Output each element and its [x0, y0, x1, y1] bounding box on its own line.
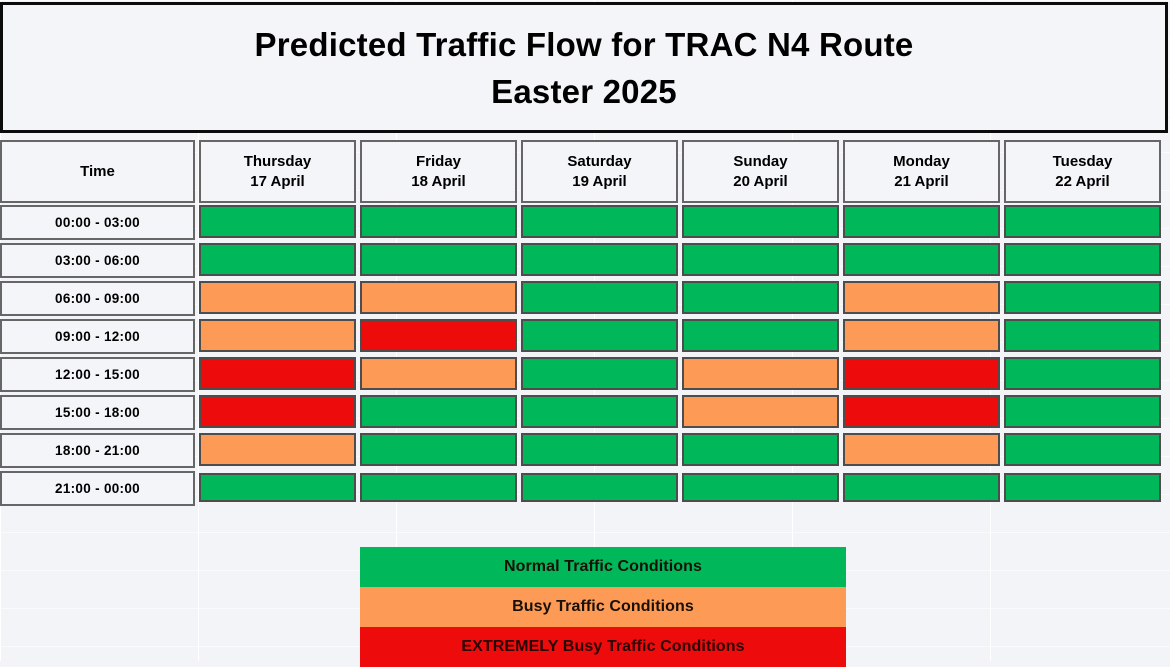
column-header-day-date: 22 April	[1055, 172, 1109, 192]
traffic-cell-saturday-normal[interactable]	[521, 281, 678, 314]
row-header-time-slot-label: 12:00 - 15:00	[55, 367, 140, 383]
traffic-cell-sunday-normal[interactable]	[682, 433, 839, 466]
row-header-time-slot[interactable]: 00:00 - 03:00	[0, 205, 195, 240]
traffic-cell-friday-normal[interactable]	[360, 433, 517, 466]
column-header-day-date: 19 April	[572, 172, 626, 192]
legend-item-label: Busy Traffic Conditions	[512, 598, 694, 616]
column-header-day-name: Thursday	[244, 152, 312, 172]
traffic-cell-friday-normal[interactable]	[360, 243, 517, 276]
row-header-time-slot[interactable]: 12:00 - 15:00	[0, 357, 195, 392]
traffic-cell-saturday-normal[interactable]	[521, 243, 678, 276]
column-header-day-name: Saturday	[567, 152, 631, 172]
table-row: 15:00 - 18:00	[0, 395, 1170, 433]
traffic-cell-tuesday-normal[interactable]	[1004, 319, 1161, 352]
table-row: 12:00 - 15:00	[0, 357, 1170, 395]
row-header-time-slot-label: 00:00 - 03:00	[55, 215, 140, 231]
page-title-line-1: Predicted Traffic Flow for TRAC N4 Route	[255, 21, 914, 68]
traffic-cell-thursday-extreme[interactable]	[199, 395, 356, 428]
row-header-time-slot-label: 21:00 - 00:00	[55, 481, 140, 497]
traffic-cell-monday-normal[interactable]	[843, 473, 1000, 502]
traffic-cell-friday-busy[interactable]	[360, 281, 517, 314]
traffic-cell-monday-normal[interactable]	[843, 205, 1000, 238]
traffic-cell-tuesday-normal[interactable]	[1004, 281, 1161, 314]
traffic-cell-sunday-busy[interactable]	[682, 357, 839, 390]
row-header-time-slot-label: 18:00 - 21:00	[55, 443, 140, 459]
traffic-cell-saturday-normal[interactable]	[521, 357, 678, 390]
column-header-saturday[interactable]: Saturday19 April	[521, 140, 678, 203]
row-header-time-slot[interactable]: 18:00 - 21:00	[0, 433, 195, 468]
traffic-cell-friday-extreme[interactable]	[360, 319, 517, 352]
traffic-cell-tuesday-normal[interactable]	[1004, 473, 1161, 502]
row-header-time-slot-label: 03:00 - 06:00	[55, 253, 140, 269]
row-header-time-slot[interactable]: 09:00 - 12:00	[0, 319, 195, 354]
legend-item-extreme[interactable]: EXTREMELY Busy Traffic Conditions	[360, 627, 846, 667]
column-header-day-name: Tuesday	[1053, 152, 1113, 172]
page-title-line-2: Easter 2025	[491, 68, 677, 115]
legend: Normal Traffic ConditionsBusy Traffic Co…	[360, 547, 846, 667]
column-header-day-name: Monday	[893, 152, 950, 172]
table-body: 00:00 - 03:0003:00 - 06:0006:00 - 09:000…	[0, 205, 1170, 509]
column-header-day-date: 20 April	[733, 172, 787, 192]
traffic-cell-thursday-busy[interactable]	[199, 433, 356, 466]
traffic-cell-monday-busy[interactable]	[843, 433, 1000, 466]
legend-item-label: Normal Traffic Conditions	[504, 558, 702, 576]
traffic-cell-thursday-normal[interactable]	[199, 205, 356, 238]
table-row: 18:00 - 21:00	[0, 433, 1170, 471]
traffic-cell-tuesday-normal[interactable]	[1004, 357, 1161, 390]
row-header-time-slot-label: 06:00 - 09:00	[55, 291, 140, 307]
table-row: 06:00 - 09:00	[0, 281, 1170, 319]
table-row: 21:00 - 00:00	[0, 471, 1170, 509]
traffic-cell-tuesday-normal[interactable]	[1004, 395, 1161, 428]
table-header-row: TimeThursday17 AprilFriday18 AprilSaturd…	[0, 140, 1170, 205]
traffic-cell-saturday-normal[interactable]	[521, 473, 678, 502]
traffic-cell-sunday-normal[interactable]	[682, 205, 839, 238]
traffic-cell-saturday-normal[interactable]	[521, 205, 678, 238]
traffic-cell-thursday-busy[interactable]	[199, 319, 356, 352]
column-header-sunday[interactable]: Sunday20 April	[682, 140, 839, 203]
traffic-cell-sunday-normal[interactable]	[682, 281, 839, 314]
row-header-time-slot[interactable]: 06:00 - 09:00	[0, 281, 195, 316]
legend-item-normal[interactable]: Normal Traffic Conditions	[360, 547, 846, 587]
column-header-day-date: 21 April	[894, 172, 948, 192]
traffic-cell-saturday-normal[interactable]	[521, 319, 678, 352]
traffic-cell-monday-extreme[interactable]	[843, 395, 1000, 428]
traffic-cell-monday-busy[interactable]	[843, 281, 1000, 314]
traffic-cell-tuesday-normal[interactable]	[1004, 243, 1161, 276]
traffic-flow-page: Predicted Traffic Flow for TRAC N4 Route…	[0, 0, 1170, 661]
traffic-cell-thursday-normal[interactable]	[199, 473, 356, 502]
traffic-cell-sunday-normal[interactable]	[682, 319, 839, 352]
traffic-cell-sunday-normal[interactable]	[682, 473, 839, 502]
row-header-time-slot[interactable]: 03:00 - 06:00	[0, 243, 195, 278]
table-row: 00:00 - 03:00	[0, 205, 1170, 243]
traffic-cell-sunday-normal[interactable]	[682, 243, 839, 276]
traffic-cell-tuesday-normal[interactable]	[1004, 433, 1161, 466]
column-header-tuesday[interactable]: Tuesday22 April	[1004, 140, 1161, 203]
column-header-day-name: Friday	[416, 152, 461, 172]
column-header-thursday[interactable]: Thursday17 April	[199, 140, 356, 203]
column-header-day-date: 18 April	[411, 172, 465, 192]
traffic-cell-monday-normal[interactable]	[843, 243, 1000, 276]
column-header-friday[interactable]: Friday18 April	[360, 140, 517, 203]
column-header-day-name: Sunday	[733, 152, 787, 172]
traffic-cell-thursday-extreme[interactable]	[199, 357, 356, 390]
traffic-cell-friday-normal[interactable]	[360, 205, 517, 238]
table-row: 09:00 - 12:00	[0, 319, 1170, 357]
traffic-cell-saturday-normal[interactable]	[521, 395, 678, 428]
row-header-time-slot[interactable]: 21:00 - 00:00	[0, 471, 195, 506]
page-title: Predicted Traffic Flow for TRAC N4 Route…	[0, 2, 1168, 133]
traffic-cell-thursday-normal[interactable]	[199, 243, 356, 276]
traffic-cell-sunday-busy[interactable]	[682, 395, 839, 428]
column-header-day-date: 17 April	[250, 172, 304, 192]
traffic-cell-tuesday-normal[interactable]	[1004, 205, 1161, 238]
legend-item-label: EXTREMELY Busy Traffic Conditions	[461, 638, 744, 656]
table-row: 03:00 - 06:00	[0, 243, 1170, 281]
traffic-cell-thursday-busy[interactable]	[199, 281, 356, 314]
traffic-cell-monday-busy[interactable]	[843, 319, 1000, 352]
legend-item-busy[interactable]: Busy Traffic Conditions	[360, 587, 846, 627]
row-header-time-slot-label: 09:00 - 12:00	[55, 329, 140, 345]
column-header-monday[interactable]: Monday21 April	[843, 140, 1000, 203]
traffic-cell-friday-normal[interactable]	[360, 395, 517, 428]
row-header-time-slot-label: 15:00 - 18:00	[55, 405, 140, 421]
traffic-cell-friday-normal[interactable]	[360, 473, 517, 502]
traffic-cell-monday-extreme[interactable]	[843, 357, 1000, 390]
column-header-time-label: Time	[80, 162, 115, 182]
row-header-time-slot[interactable]: 15:00 - 18:00	[0, 395, 195, 430]
traffic-cell-friday-busy[interactable]	[360, 357, 517, 390]
traffic-schedule-table: TimeThursday17 AprilFriday18 AprilSaturd…	[0, 140, 1170, 509]
column-header-time[interactable]: Time	[0, 140, 195, 203]
traffic-cell-saturday-normal[interactable]	[521, 433, 678, 466]
